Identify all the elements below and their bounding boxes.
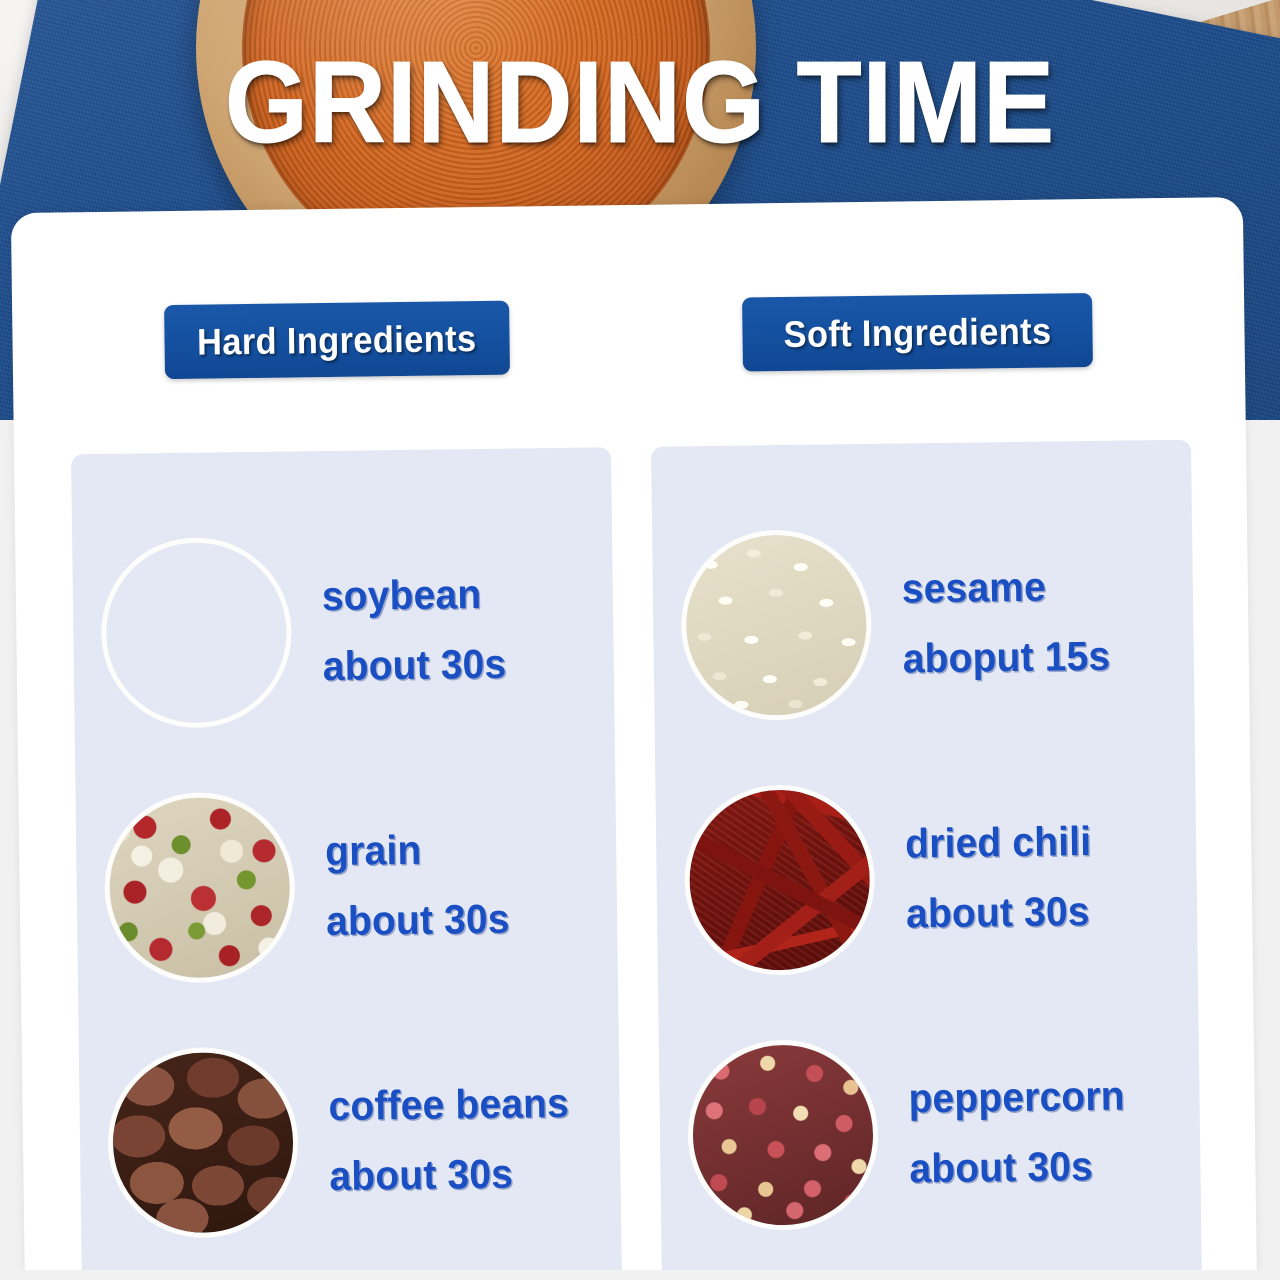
ingredient-row: soybean about 30s	[72, 527, 615, 734]
panel-soft-ingredients: sesame aboput 15s dried chili about 30s	[651, 440, 1202, 1280]
ingredient-time: about 30s	[906, 888, 1174, 935]
grain-photo	[109, 797, 291, 979]
ingredient-labels: peppercorn about 30s	[872, 1073, 1200, 1191]
panel-hard-ingredients: soybean about 30s grain about 30s	[71, 447, 622, 1280]
ingredient-time: about 30s	[323, 641, 591, 688]
page-title: GRINDING TIME	[51, 44, 1229, 160]
dried-chili-photo	[688, 789, 870, 971]
ingredient-row: peppercorn about 30s	[659, 1030, 1202, 1237]
column-heading-hard: Hard Ingredients	[164, 301, 510, 380]
ingredient-name: dried chili	[905, 818, 1173, 865]
ingredient-row: coffee beans about 30s	[79, 1037, 622, 1244]
ingredient-labels: dried chili about 30s	[869, 818, 1197, 936]
soybean-photo	[105, 542, 287, 724]
page-bottom-edge	[0, 1270, 1280, 1280]
ingredient-name: peppercorn	[908, 1073, 1176, 1120]
ingredient-labels: coffee beans about 30s	[292, 1080, 620, 1198]
ingredient-time: about 30s	[909, 1143, 1177, 1190]
ingredient-name: sesame	[902, 563, 1170, 610]
column-heading-hard-label: Hard Ingredients	[197, 320, 477, 361]
infographic-canvas: GRINDING TIME Hard Ingredients Soft Ingr…	[0, 0, 1280, 1280]
ingredient-labels: sesame aboput 15s	[866, 563, 1194, 681]
ingredient-labels: grain about 30s	[289, 825, 617, 943]
ingredient-time: about 30s	[329, 1151, 597, 1198]
coffee-beans-photo	[112, 1052, 294, 1234]
ingredient-row: sesame aboput 15s	[652, 520, 1195, 727]
ingredient-name: coffee beans	[328, 1081, 596, 1128]
column-heading-soft: Soft Ingredients	[742, 293, 1093, 372]
peppercorn-photo	[692, 1044, 874, 1226]
ingredient-row: grain about 30s	[75, 782, 618, 989]
ingredient-name: grain	[325, 826, 593, 873]
content-card: Hard Ingredients Soft Ingredients soybea…	[11, 197, 1257, 1280]
ingredient-row: dried chili about 30s	[655, 775, 1198, 982]
column-heading-soft-label: Soft Ingredients	[783, 312, 1051, 353]
sesame-photo	[685, 534, 867, 716]
ingredient-labels: soybean about 30s	[286, 570, 614, 688]
ingredient-time: aboput 15s	[902, 633, 1170, 680]
ingredient-time: about 30s	[326, 896, 594, 943]
ingredient-name: soybean	[322, 571, 590, 618]
